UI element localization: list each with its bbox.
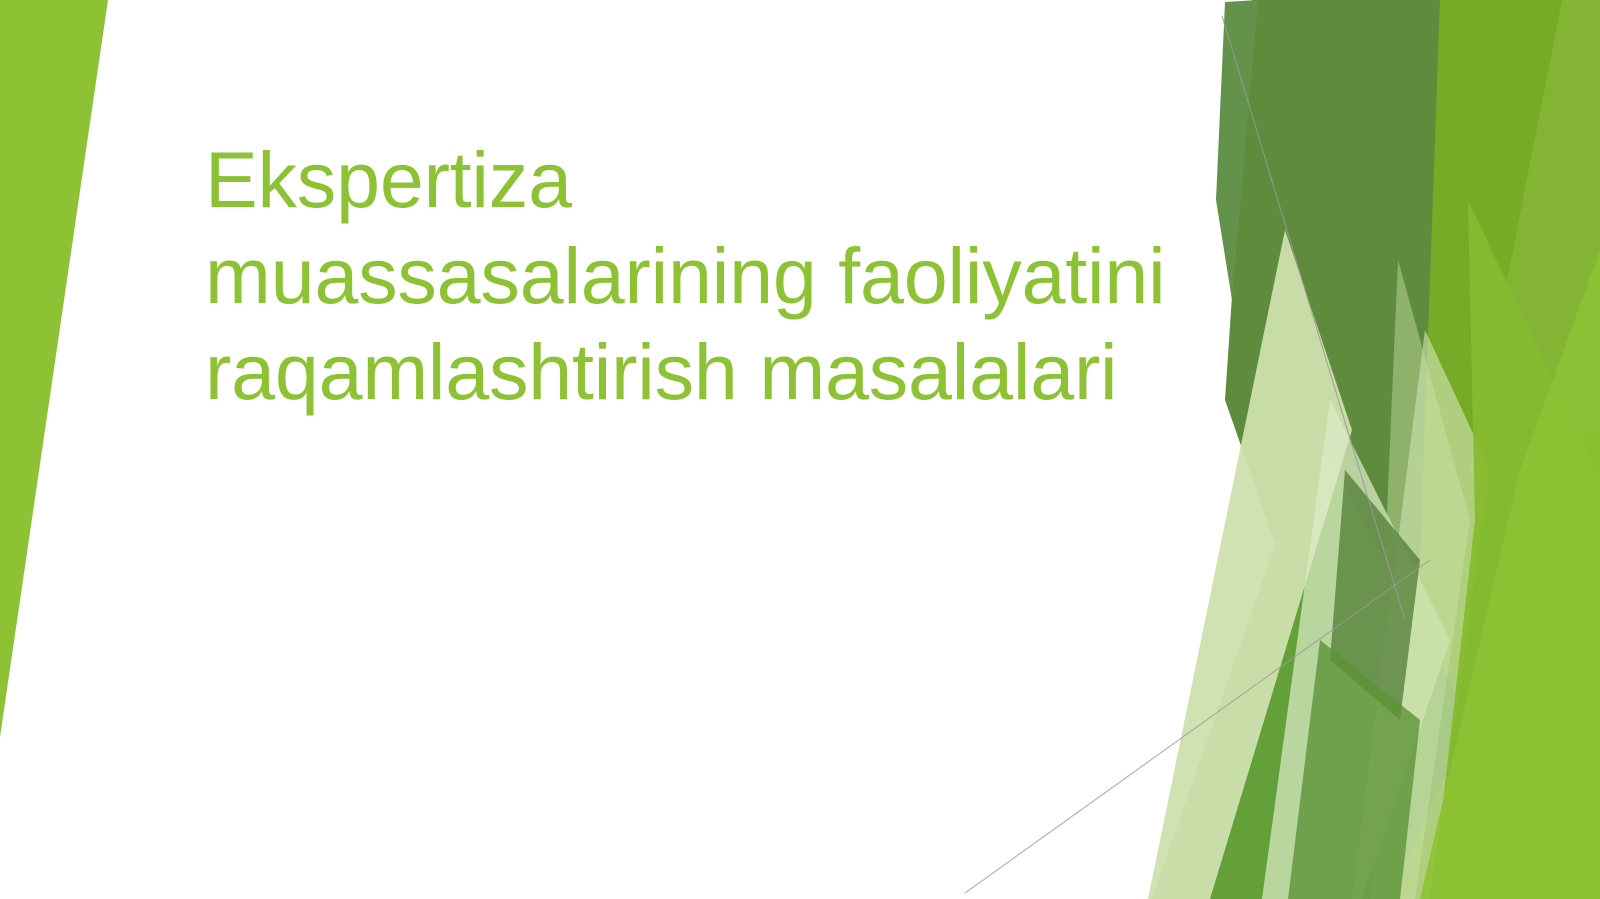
right-shape-bright-lower-right [1420, 250, 1600, 899]
title-placeholder[interactable]: Ekspertiza muassasalarining faoliyatini … [205, 132, 1195, 420]
slide-title: Ekspertiza muassasalarining faoliyatini … [205, 132, 1195, 420]
right-shape-pale-narrow [1262, 400, 1450, 899]
right-shape-pale-sliver [1370, 260, 1470, 899]
right-shape-pale-right [1352, 330, 1490, 899]
slide-canvas: Ekspertiza muassasalarining faoliyatini … [0, 0, 1600, 899]
hairline-diagonal-upper [1222, 16, 1405, 620]
right-shape-far-right-light [1330, 0, 1600, 899]
hairline-diagonal-lower [965, 560, 1430, 893]
right-shape-dark-edge [1216, 0, 1258, 300]
right-shape-mid-lower [1152, 430, 1470, 899]
right-shape-bright-upper [1360, 0, 1600, 899]
right-shape-overlap-dark [1330, 470, 1420, 720]
right-shape-dark-main [1225, 0, 1440, 700]
right-shape-overlap-dark-2 [1288, 640, 1420, 899]
right-shape-bright-column [1432, 200, 1600, 899]
left-green-wedge [0, 0, 108, 737]
